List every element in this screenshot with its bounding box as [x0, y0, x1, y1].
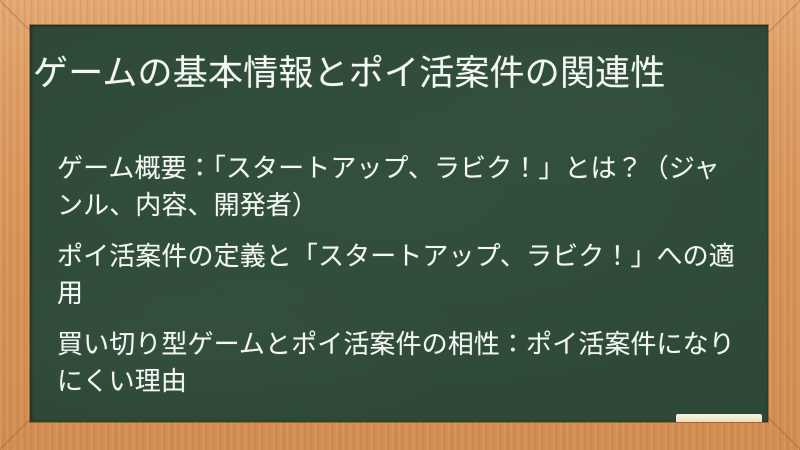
- blackboard-slide: ゲームの基本情報とポイ活案件の関連性 ゲーム概要：「スタートアップ、ラビク！」と…: [0, 0, 800, 450]
- slide-bullet-item: ゲーム概要：「スタートアップ、ラビク！」とは？（ジャンル、内容、開発者）: [57, 150, 745, 224]
- chalkboard-surface: ゲームの基本情報とポイ活案件の関連性 ゲーム概要：「スタートアップ、ラビク！」と…: [30, 25, 768, 422]
- chalk-stick-icon: [676, 414, 762, 422]
- slide-title: ゲームの基本情報とポイ活案件の関連性: [33, 49, 745, 98]
- slide-bullet-item: 買い切り型ゲームとポイ活案件の相性：ポイ活案件になりにくい理由: [57, 326, 745, 400]
- chalkboard-content: ゲームの基本情報とポイ活案件の関連性 ゲーム概要：「スタートアップ、ラビク！」と…: [30, 25, 768, 422]
- slide-bullet-list: ゲーム概要：「スタートアップ、ラビク！」とは？（ジャンル、内容、開発者） ポイ活…: [57, 150, 745, 400]
- slide-bullet-item: ポイ活案件の定義と「スタートアップ、ラビク！」への適用: [57, 238, 745, 312]
